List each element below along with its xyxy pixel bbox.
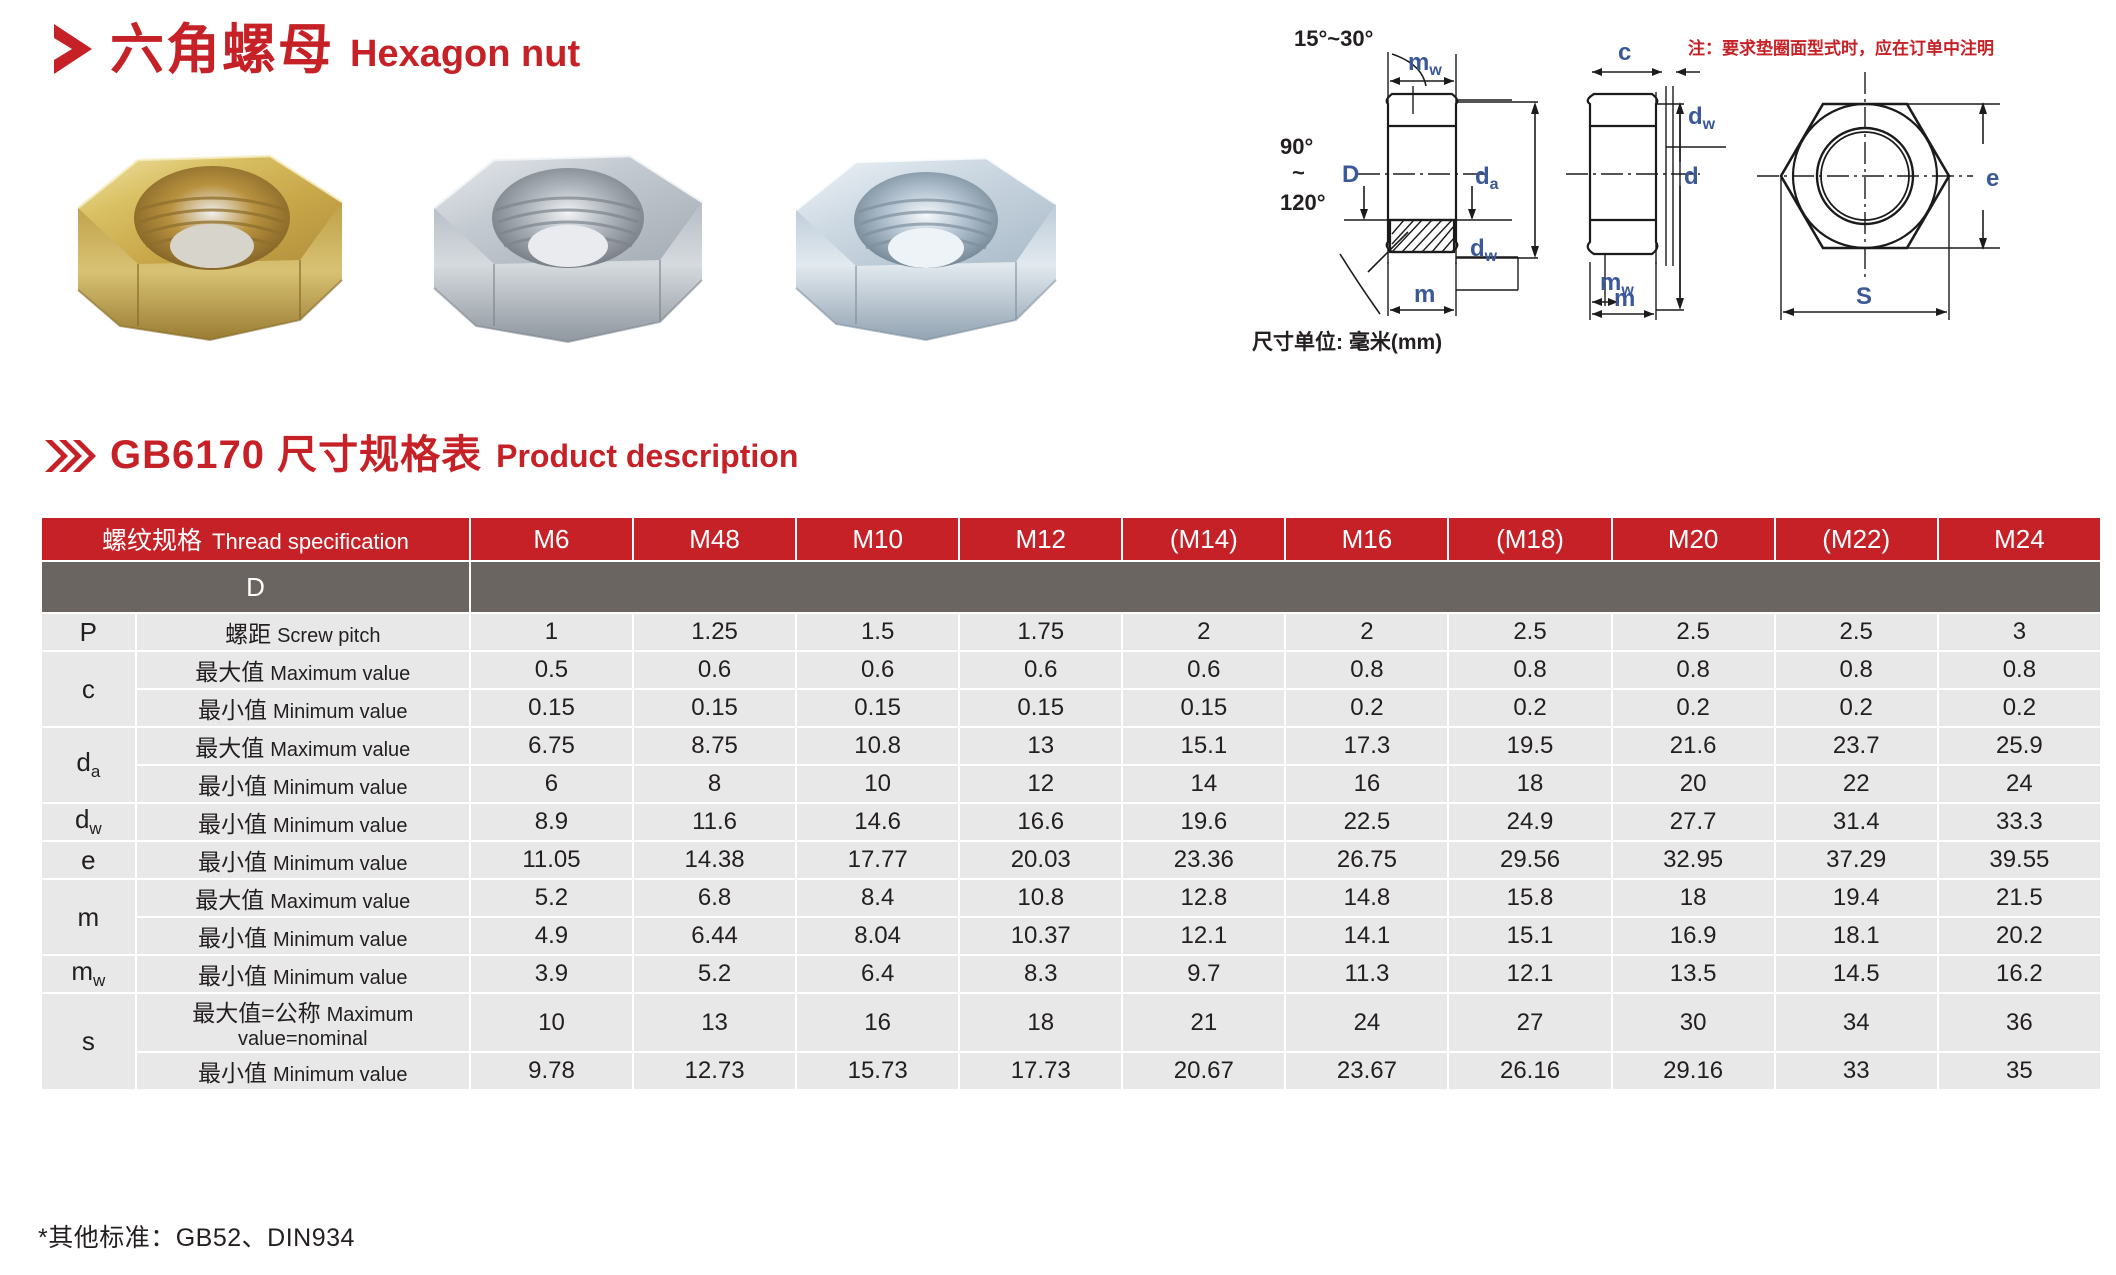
cell: 0.8 [1613, 652, 1774, 688]
row-desc-cn: 最小值 [198, 697, 267, 723]
label-da: da [1475, 163, 1499, 193]
cell: 13.5 [1613, 956, 1774, 992]
cell: 11.3 [1286, 956, 1447, 992]
cell: 14.1 [1286, 918, 1447, 954]
cell: 0.6 [634, 652, 795, 688]
cell: 19.5 [1449, 728, 1610, 764]
cell: 27.7 [1613, 804, 1774, 840]
cell: 6.4 [797, 956, 958, 992]
row-desc-en: Maximum value [270, 663, 410, 685]
product-photo-yellow-zinc-hex-nut [60, 130, 360, 358]
cell: 19.4 [1776, 880, 1937, 916]
cell: 36 [1939, 994, 2100, 1051]
footnote-other-standards: *其他标准：GB52、DIN934 [38, 1218, 355, 1254]
cell: 20.67 [1123, 1053, 1284, 1089]
cell: 17.3 [1286, 728, 1447, 764]
cell: 0.8 [1939, 652, 2100, 688]
cell: 12.73 [634, 1053, 795, 1089]
row-desc-en: Screw pitch [277, 625, 380, 647]
cell: 20.2 [1939, 918, 2100, 954]
table-row: s 最大值=公称Maximum value=nominal 10 13 16 1… [42, 994, 2100, 1051]
row-symbol-e: e [42, 842, 135, 878]
row-symbol-base: m [71, 956, 93, 986]
cell: 0.15 [634, 690, 795, 726]
cell: 0.6 [960, 652, 1121, 688]
row-desc-s-min: 最小值Minimum value [137, 1053, 469, 1089]
cell: 0.6 [1123, 652, 1284, 688]
row-desc-cn: 最大值 [195, 887, 264, 913]
row-desc-cn: 最小值 [198, 963, 267, 989]
cell: 6.44 [634, 918, 795, 954]
cell: 29.16 [1613, 1053, 1774, 1089]
cell: 1 [471, 614, 632, 650]
table-row: e 最小值Minimum value 11.05 14.38 17.77 20.… [42, 842, 2100, 878]
drawing-note: 注：要求垫圈面型式时，应在订单中注明 [1688, 34, 1994, 59]
cell: 10 [797, 766, 958, 802]
cell: 23.67 [1286, 1053, 1447, 1089]
product-photo-hot-dip-galvanized-hex-nut [418, 130, 718, 358]
cell: 0.2 [1286, 690, 1447, 726]
row-desc-cn: 最小值 [198, 1060, 267, 1086]
table-subheader-row: D [42, 562, 2100, 612]
spec-table: 螺纹规格Thread specification M6 M48 M10 M12 … [40, 516, 2102, 1091]
column-header-m22: (M22) [1776, 518, 1937, 560]
cell: 30 [1613, 994, 1774, 1051]
hex-nut-dimension-drawing: 15°~30° 90° ~ 120° mw D da dw m c dw d m… [1280, 14, 2100, 334]
row-desc-en: Minimum value [273, 853, 407, 875]
cell: 12.1 [1123, 918, 1284, 954]
cell: 32.95 [1613, 842, 1774, 878]
row-desc-en: Minimum value [273, 929, 407, 951]
row-desc-m-min: 最小值Minimum value [137, 918, 469, 954]
cell: 12.8 [1123, 880, 1284, 916]
cell: 16.6 [960, 804, 1121, 840]
row-desc-s-max: 最大值=公称Maximum value=nominal [137, 994, 469, 1051]
row-desc-cn: 最大值=公称 [192, 1000, 320, 1026]
cell: 25.9 [1939, 728, 2100, 764]
row-symbol-c: c [42, 652, 135, 726]
page-title-cn: 六角螺母 [110, 23, 334, 77]
column-header-m20: M20 [1613, 518, 1774, 560]
label-s: S [1856, 283, 1872, 310]
cell: 8.4 [797, 880, 958, 916]
label-cone-angle-top: 90° [1280, 134, 1313, 159]
row-desc-en: Minimum value [273, 1064, 407, 1086]
table-row: P 螺距Screw pitch 1 1.25 1.5 1.75 2 2 2.5 … [42, 614, 2100, 650]
column-header-m16: M16 [1286, 518, 1447, 560]
cell: 24 [1939, 766, 2100, 802]
cell: 34 [1776, 994, 1937, 1051]
table-row: 最小值Minimum value 6 8 10 12 14 16 18 20 2… [42, 766, 2100, 802]
cell: 29.56 [1449, 842, 1610, 878]
row-desc-cn: 最小值 [198, 773, 267, 799]
cell: 0.8 [1776, 652, 1937, 688]
row-symbol-s: s [42, 994, 135, 1089]
row-desc-da-min: 最小值Minimum value [137, 766, 469, 802]
cell: 14.8 [1286, 880, 1447, 916]
table-row: 最小值Minimum value 0.15 0.15 0.15 0.15 0.1… [42, 690, 2100, 726]
cell: 8.75 [634, 728, 795, 764]
row-symbol-base: d [76, 747, 90, 777]
label-m-view2: m [1614, 285, 1635, 312]
cell: 0.8 [1449, 652, 1610, 688]
table-row: 最小值Minimum value 4.9 6.44 8.04 10.37 12.… [42, 918, 2100, 954]
label-c: c [1618, 39, 1631, 66]
cell: 5.2 [471, 880, 632, 916]
cell: 3 [1939, 614, 2100, 650]
row-symbol-m: m [42, 880, 135, 954]
cell: 10.37 [960, 918, 1121, 954]
row-desc-cn: 最小值 [198, 849, 267, 875]
cell: 10.8 [797, 728, 958, 764]
column-header-m12: M12 [960, 518, 1121, 560]
row-desc-e-min: 最小值Minimum value [137, 842, 469, 878]
cell: 1.25 [634, 614, 795, 650]
cell: 0.2 [1776, 690, 1937, 726]
column-header-m10: M10 [797, 518, 958, 560]
cell: 2.5 [1613, 614, 1774, 650]
cell: 37.29 [1776, 842, 1937, 878]
cell: 14.38 [634, 842, 795, 878]
cell: 16.2 [1939, 956, 2100, 992]
cell: 3.9 [471, 956, 632, 992]
row-desc-da-max: 最大值Maximum value [137, 728, 469, 764]
label-chamfer-angle: 15°~30° [1294, 26, 1373, 51]
cell: 33 [1776, 1053, 1937, 1089]
cell: 31.4 [1776, 804, 1937, 840]
column-header-m14: (M14) [1123, 518, 1284, 560]
product-photo-blue-white-zinc-hex-nut [776, 130, 1076, 358]
label-m-view1: m [1414, 281, 1435, 308]
row-symbol-dw: dw [42, 804, 135, 840]
cell: 24 [1286, 994, 1447, 1051]
cell: 0.15 [797, 690, 958, 726]
cell: 0.15 [960, 690, 1121, 726]
table-row: 最小值Minimum value 9.78 12.73 15.73 17.73 … [42, 1053, 2100, 1089]
cell: 20.03 [960, 842, 1121, 878]
cell: 1.5 [797, 614, 958, 650]
row-symbol-p: P [42, 614, 135, 650]
cell: 2 [1286, 614, 1447, 650]
cell: 0.2 [1939, 690, 2100, 726]
cell: 13 [960, 728, 1121, 764]
cell: 15.1 [1123, 728, 1284, 764]
row-desc-cn: 最大值 [195, 659, 264, 685]
row-desc-mw-min: 最小值Minimum value [137, 956, 469, 992]
cell: 23.7 [1776, 728, 1937, 764]
cell: 2.5 [1449, 614, 1610, 650]
table-row: mw 最小值Minimum value 3.9 5.2 6.4 8.3 9.7 … [42, 956, 2100, 992]
cell: 10.8 [960, 880, 1121, 916]
row-desc-c-min: 最小值Minimum value [137, 690, 469, 726]
cell: 17.77 [797, 842, 958, 878]
row-symbol-mw: mw [42, 956, 135, 992]
cell: 8.3 [960, 956, 1121, 992]
cell: 6 [471, 766, 632, 802]
cell: 18 [1613, 880, 1774, 916]
row-desc-m-max: 最大值Maximum value [137, 880, 469, 916]
row-desc-cn: 最小值 [198, 811, 267, 837]
cell: 2.5 [1776, 614, 1937, 650]
cell: 8.04 [797, 918, 958, 954]
row-symbol-sub: w [93, 972, 105, 991]
row-desc-en: Minimum value [273, 701, 407, 723]
table-row: c 最大值Maximum value 0.5 0.6 0.6 0.6 0.6 0… [42, 652, 2100, 688]
column-header-m18: (M18) [1449, 518, 1610, 560]
label-dw-view2: dw [1688, 103, 1716, 133]
cell: 22 [1776, 766, 1937, 802]
cell: 23.36 [1123, 842, 1284, 878]
cell: 12.1 [1449, 956, 1610, 992]
cell: 0.2 [1449, 690, 1610, 726]
cell: 20 [1613, 766, 1774, 802]
cell: 33.3 [1939, 804, 2100, 840]
section-heading-block: GB6170 尺寸规格表 Product description [44, 432, 798, 475]
table-row: dw 最小值Minimum value 8.9 11.6 14.6 16.6 1… [42, 804, 2100, 840]
cell: 14.5 [1776, 956, 1937, 992]
cell: 21.6 [1613, 728, 1774, 764]
section-title-cn: GB6170 尺寸规格表 [110, 435, 482, 475]
cell: 11.05 [471, 842, 632, 878]
cell: 12 [960, 766, 1121, 802]
cell: 16 [1286, 766, 1447, 802]
cell: 14.6 [797, 804, 958, 840]
label-D: D [1342, 161, 1359, 188]
cell: 18 [1449, 766, 1610, 802]
cell: 5.2 [634, 956, 795, 992]
row-desc-en: Maximum value [270, 739, 410, 761]
cell: 19.6 [1123, 804, 1284, 840]
row-desc-cn: 螺距 [225, 621, 271, 647]
column-header-m6: M6 [471, 518, 632, 560]
page-title-en: Hexagon nut [350, 35, 580, 73]
table-row: da 最大值Maximum value 6.75 8.75 10.8 13 15… [42, 728, 2100, 764]
cell: 1.75 [960, 614, 1121, 650]
label-d: d [1684, 163, 1699, 190]
row-desc-cn: 最小值 [198, 925, 267, 951]
subheader-spacer [471, 562, 2100, 612]
cell: 16 [797, 994, 958, 1051]
cell: 26.75 [1286, 842, 1447, 878]
label-mw-view1: mw [1408, 49, 1442, 79]
cell: 27 [1449, 994, 1610, 1051]
cell: 6.8 [634, 880, 795, 916]
row-desc-en: Minimum value [273, 777, 407, 799]
row-symbol-sub: w [89, 820, 101, 839]
header-thread-specification: 螺纹规格Thread specification [42, 518, 469, 560]
row-desc-en: Maximum value [270, 891, 410, 913]
table-row: m 最大值Maximum value 5.2 6.8 8.4 10.8 12.8… [42, 880, 2100, 916]
label-dw-view1: dw [1470, 235, 1498, 265]
cell: 22.5 [1286, 804, 1447, 840]
cell: 39.55 [1939, 842, 2100, 878]
product-photo-strip [60, 118, 1100, 358]
cell: 13 [634, 994, 795, 1051]
cell: 26.16 [1449, 1053, 1610, 1089]
cell: 15.73 [797, 1053, 958, 1089]
cell: 21.5 [1939, 880, 2100, 916]
header-thread-spec-cn: 螺纹规格 [102, 527, 202, 555]
cell: 35 [1939, 1053, 2100, 1089]
cell: 0.15 [1123, 690, 1284, 726]
drawing-unit-note: 尺寸单位: 毫米(mm) [1252, 326, 1442, 356]
cell: 17.73 [960, 1053, 1121, 1089]
row-desc-en: Minimum value [273, 967, 407, 989]
cell: 6.75 [471, 728, 632, 764]
cell: 11.6 [634, 804, 795, 840]
cell: 0.15 [471, 690, 632, 726]
cell: 15.8 [1449, 880, 1610, 916]
cell: 21 [1123, 994, 1284, 1051]
cell: 24.9 [1449, 804, 1610, 840]
cell: 0.2 [1613, 690, 1774, 726]
section-title-en: Product description [496, 440, 798, 472]
cell: 14 [1123, 766, 1284, 802]
row-symbol-da: da [42, 728, 135, 802]
page-title-block: 六角螺母 Hexagon nut [52, 14, 580, 77]
cell: 15.1 [1449, 918, 1610, 954]
label-cone-tilde: ~ [1292, 160, 1305, 185]
cell: 9.78 [471, 1053, 632, 1089]
chevron-right-icon [52, 22, 94, 76]
row-desc-dw-min: 最小值Minimum value [137, 804, 469, 840]
cell: 4.9 [471, 918, 632, 954]
cell: 18 [960, 994, 1121, 1051]
cell: 8.9 [471, 804, 632, 840]
label-e: e [1986, 165, 1999, 192]
label-cone-angle-bottom: 120° [1280, 190, 1326, 215]
cell: 10 [471, 994, 632, 1051]
cell: 0.5 [471, 652, 632, 688]
table-header-row: 螺纹规格Thread specification M6 M48 M10 M12 … [42, 518, 2100, 560]
triple-chevron-right-icon [44, 438, 96, 474]
cell: 8 [634, 766, 795, 802]
cell: 18.1 [1776, 918, 1937, 954]
header-thread-spec-en: Thread specification [212, 529, 409, 554]
engineering-drawing: 15°~30° 90° ~ 120° mw D da dw m c dw d m… [1280, 14, 2100, 354]
row-desc-screw-pitch: 螺距Screw pitch [137, 614, 469, 650]
column-header-m48: M48 [634, 518, 795, 560]
row-symbol-base: d [75, 804, 89, 834]
column-header-m24: M24 [1939, 518, 2100, 560]
cell: 9.7 [1123, 956, 1284, 992]
row-symbol-sub: a [91, 763, 100, 782]
cell: 0.6 [797, 652, 958, 688]
row-desc-cn: 最大值 [195, 735, 264, 761]
cell: 0.8 [1286, 652, 1447, 688]
row-desc-en: Minimum value [273, 815, 407, 837]
subheader-symbol-d: D [42, 562, 469, 612]
row-desc-c-max: 最大值Maximum value [137, 652, 469, 688]
cell: 2 [1123, 614, 1284, 650]
cell: 16.9 [1613, 918, 1774, 954]
